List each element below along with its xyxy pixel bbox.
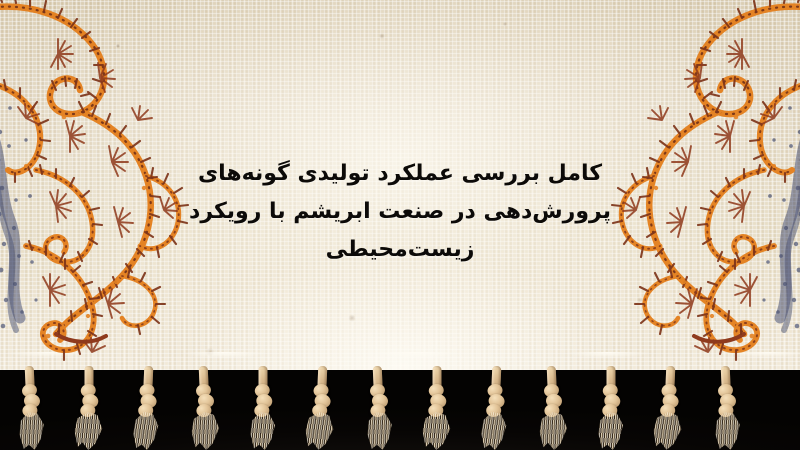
navy-thread-field xyxy=(0,106,38,330)
navy-thread-field xyxy=(762,106,800,330)
slide-canvas: کامل بررسی عملکرد تولیدی گونه‌های پرورش‌… xyxy=(0,0,800,450)
black-backdrop-band xyxy=(0,370,800,450)
title-line-3: زیست‌محیطی xyxy=(185,231,615,269)
slide-title: کامل بررسی عملکرد تولیدی گونه‌های پرورش‌… xyxy=(185,155,615,269)
title-line-2: پرورش‌دهی در صنعت ابریشم با رویکرد xyxy=(185,193,615,231)
title-line-1: کامل بررسی عملکرد تولیدی گونه‌های xyxy=(185,155,615,193)
